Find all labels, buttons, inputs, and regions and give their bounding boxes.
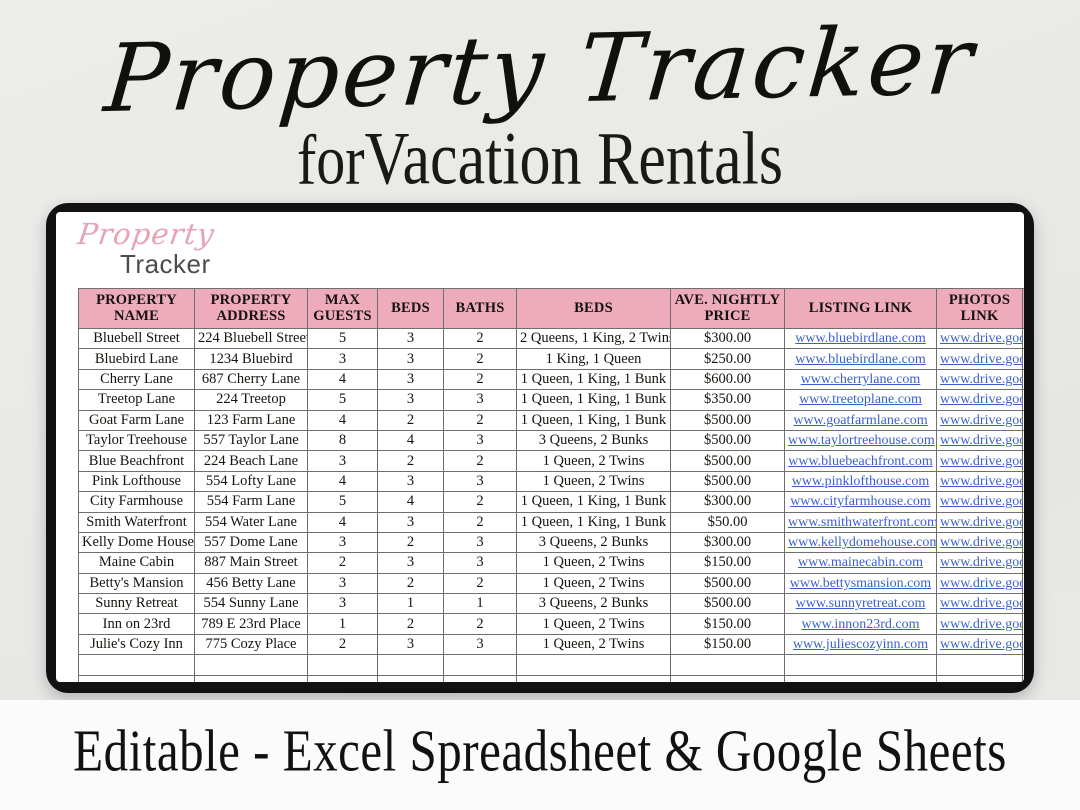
cell-truncated-extra[interactable] (1023, 349, 1025, 369)
cell-photos-link[interactable]: www.drive.goog (937, 329, 1023, 349)
cell-baths[interactable]: 2 (444, 614, 517, 634)
cell-property-name[interactable]: Goat Farm Lane (79, 410, 195, 430)
cell-baths[interactable]: 2 (444, 349, 517, 369)
cell-nightly-price[interactable]: $500.00 (671, 594, 785, 614)
cell-nightly-price[interactable]: $350.00 (671, 390, 785, 410)
cell-max-guests[interactable]: 3 (308, 573, 378, 593)
cell-baths[interactable]: 2 (444, 573, 517, 593)
caption-text: Editable - Excel Spreadsheet & Google Sh… (0, 716, 1080, 786)
column-header-baths[interactable]: BATHS (444, 289, 517, 329)
cell-baths[interactable]: 3 (444, 553, 517, 573)
cell-empty[interactable] (79, 675, 195, 682)
cell-listing-link[interactable]: www.bluebirdlane.com (785, 329, 937, 349)
cell-baths[interactable]: 3 (444, 430, 517, 450)
cell-truncated-extra[interactable] (1023, 492, 1025, 512)
photos-link-text[interactable]: www.drive.goog (940, 535, 1023, 550)
cell-baths[interactable]: 2 (444, 492, 517, 512)
cell-max-guests[interactable]: 5 (308, 329, 378, 349)
table-row-empty[interactable] (79, 675, 1025, 682)
cell-truncated-extra[interactable] (1023, 512, 1025, 532)
cell-property-name[interactable]: Smith Waterfront (79, 512, 195, 532)
column-header-photos-link[interactable]: PHOTOSLINK (937, 289, 1023, 329)
cell-listing-link[interactable]: www.sunnyretreat.com (785, 594, 937, 614)
photos-link-text[interactable]: www.drive.goog (940, 474, 1023, 489)
cell-max-guests[interactable]: 1 (308, 614, 378, 634)
cell-beds-description[interactable]: 1 Queen, 2 Twins (517, 451, 671, 471)
cell-listing-link[interactable]: www.bluebeachfront.com (785, 451, 937, 471)
cell-max-guests[interactable]: 5 (308, 390, 378, 410)
column-header-truncated-extra[interactable] (1023, 289, 1025, 329)
table-row[interactable]: Sunny Retreat554 Sunny Lane3113 Queens, … (79, 594, 1025, 614)
page-title: Property Tracker (0, 11, 1080, 132)
listing-link-text[interactable]: www.smithwaterfront.com (788, 515, 937, 530)
cell-beds-description[interactable]: 1 Queen, 1 King, 1 Bunk (517, 410, 671, 430)
cell-empty[interactable] (671, 675, 785, 682)
cell-photos-link[interactable]: www.drive.goog (937, 614, 1023, 634)
cell-nightly-price[interactable]: $600.00 (671, 369, 785, 389)
cell-empty[interactable] (79, 655, 195, 675)
cell-baths[interactable]: 2 (444, 451, 517, 471)
cell-nightly-price[interactable]: $150.00 (671, 634, 785, 654)
cell-property-address[interactable]: 557 Dome Lane (195, 532, 308, 552)
cell-truncated-extra[interactable] (1023, 329, 1025, 349)
cell-property-name[interactable]: Blue Beachfront (79, 451, 195, 471)
table-row[interactable]: Inn on 23rd789 E 23rd Place1221 Queen, 2… (79, 614, 1025, 634)
cell-baths[interactable]: 2 (444, 512, 517, 532)
cell-property-address[interactable]: 887 Main Street (195, 553, 308, 573)
cell-truncated-extra[interactable] (1023, 369, 1025, 389)
cell-property-address[interactable]: 224 Beach Lane (195, 451, 308, 471)
cell-nightly-price[interactable]: $300.00 (671, 329, 785, 349)
cell-photos-link[interactable]: www.drive.goog (937, 369, 1023, 389)
cell-empty[interactable] (378, 675, 444, 682)
cell-beds-count[interactable]: 2 (378, 410, 444, 430)
cell-property-address[interactable]: 224 Treetop (195, 390, 308, 410)
listing-link-text[interactable]: www.kellydomehouse.com (788, 535, 937, 550)
cell-empty[interactable] (1023, 655, 1025, 675)
cell-listing-link[interactable]: www.treetoplane.com (785, 390, 937, 410)
cell-empty[interactable] (444, 655, 517, 675)
table-row[interactable]: Treetop Lane224 Treetop5331 Queen, 1 Kin… (79, 390, 1025, 410)
cell-property-name[interactable]: Julie's Cozy Inn (79, 634, 195, 654)
cell-truncated-extra[interactable] (1023, 614, 1025, 634)
cell-photos-link[interactable]: www.drive.goog (937, 492, 1023, 512)
cell-truncated-extra[interactable] (1023, 451, 1025, 471)
cell-property-address[interactable]: 456 Betty Lane (195, 573, 308, 593)
cell-beds-description[interactable]: 3 Queens, 2 Bunks (517, 430, 671, 450)
cell-baths[interactable]: 2 (444, 410, 517, 430)
cell-listing-link[interactable]: www.pinklofthouse.com (785, 471, 937, 491)
table-row-empty[interactable] (79, 655, 1025, 675)
cell-empty[interactable] (671, 655, 785, 675)
cell-baths[interactable]: 3 (444, 390, 517, 410)
table-row[interactable]: Betty's Mansion456 Betty Lane3221 Queen,… (79, 573, 1025, 593)
cell-max-guests[interactable]: 3 (308, 532, 378, 552)
cell-property-address[interactable]: 554 Water Lane (195, 512, 308, 532)
table-row[interactable]: Bluebell Street224 Bluebell Street5322 Q… (79, 329, 1025, 349)
cell-empty[interactable] (937, 655, 1023, 675)
cell-beds-description[interactable]: 1 Queen, 1 King, 1 Bunk (517, 390, 671, 410)
cell-listing-link[interactable]: www.bettysmansion.com (785, 573, 937, 593)
cell-max-guests[interactable]: 4 (308, 512, 378, 532)
cell-property-name[interactable]: Bluebell Street (79, 329, 195, 349)
table-row[interactable]: Bluebird Lane1234 Bluebird3321 King, 1 Q… (79, 349, 1025, 369)
cell-photos-link[interactable]: www.drive.goog (937, 512, 1023, 532)
photos-link-text[interactable]: www.drive.goog (940, 555, 1023, 570)
cell-beds-count[interactable]: 3 (378, 553, 444, 573)
cell-property-name[interactable]: Pink Lofthouse (79, 471, 195, 491)
cell-listing-link[interactable]: www.kellydomehouse.com (785, 532, 937, 552)
cell-property-address[interactable]: 123 Farm Lane (195, 410, 308, 430)
cell-listing-link[interactable]: www.innon23rd.com (785, 614, 937, 634)
cell-property-name[interactable]: City Farmhouse (79, 492, 195, 512)
cell-listing-link[interactable]: www.taylortreehouse.com (785, 430, 937, 450)
table-row[interactable]: Maine Cabin887 Main Street2331 Queen, 2 … (79, 553, 1025, 573)
listing-link-text[interactable]: www.goatfarmlane.com (793, 413, 927, 428)
subtitle-for-word: for (297, 120, 365, 199)
table-row[interactable]: Taylor Treehouse557 Taylor Lane8433 Quee… (79, 430, 1025, 450)
listing-link-text[interactable]: www.bluebeachfront.com (788, 454, 932, 469)
cell-beds-count[interactable]: 2 (378, 614, 444, 634)
logo-script-text: Property (76, 220, 217, 249)
cell-beds-count[interactable]: 4 (378, 430, 444, 450)
cell-empty[interactable] (308, 655, 378, 675)
cell-max-guests[interactable]: 4 (308, 369, 378, 389)
cell-photos-link[interactable]: www.drive.goog (937, 349, 1023, 369)
listing-link-text[interactable]: www.mainecabin.com (798, 555, 923, 570)
table-row[interactable]: Blue Beachfront224 Beach Lane3221 Queen,… (79, 451, 1025, 471)
table-row[interactable]: Pink Lofthouse554 Lofty Lane4331 Queen, … (79, 471, 1025, 491)
cell-photos-link[interactable]: www.drive.goog (937, 553, 1023, 573)
cell-beds-description[interactable]: 2 Queens, 1 King, 2 Twins (517, 329, 671, 349)
cell-nightly-price[interactable]: $300.00 (671, 492, 785, 512)
title-block: Property Tracker forVacation Rentals (0, 0, 1080, 200)
photos-link-text[interactable]: www.drive.goog (940, 637, 1023, 652)
cell-baths[interactable]: 2 (444, 329, 517, 349)
cell-max-guests[interactable]: 3 (308, 451, 378, 471)
cell-max-guests[interactable]: 2 (308, 553, 378, 573)
table-row[interactable]: Kelly Dome House557 Dome Lane3233 Queens… (79, 532, 1025, 552)
cell-nightly-price[interactable]: $500.00 (671, 430, 785, 450)
cell-photos-link[interactable]: www.drive.goog (937, 573, 1023, 593)
cell-nightly-price[interactable]: $300.00 (671, 532, 785, 552)
cell-beds-description[interactable]: 1 King, 1 Queen (517, 349, 671, 369)
logo-plain-text: Tracker (120, 251, 308, 277)
cell-baths[interactable]: 3 (444, 532, 517, 552)
cell-max-guests[interactable]: 4 (308, 471, 378, 491)
cell-beds-description[interactable]: 1 Queen, 1 King, 1 Bunk (517, 369, 671, 389)
cell-beds-count[interactable]: 4 (378, 492, 444, 512)
photos-link-text[interactable]: www.drive.goog (940, 494, 1023, 509)
subtitle-rest: Vacation Rentals (365, 118, 783, 201)
column-header-beds-description[interactable]: BEDS (517, 289, 671, 329)
cell-empty[interactable] (785, 675, 937, 682)
cell-truncated-extra[interactable] (1023, 573, 1025, 593)
cell-property-name[interactable]: Betty's Mansion (79, 573, 195, 593)
poster-canvas: Property Tracker forVacation Rentals Pro… (0, 0, 1080, 810)
cell-beds-count[interactable]: 3 (378, 471, 444, 491)
listing-link-text[interactable]: www.treetoplane.com (799, 392, 922, 407)
photos-link-text[interactable]: www.drive.goog (940, 515, 1023, 530)
photos-link-text[interactable]: www.drive.goog (940, 352, 1023, 367)
cell-beds-count[interactable]: 3 (378, 369, 444, 389)
cell-property-name[interactable]: Treetop Lane (79, 390, 195, 410)
cell-property-address[interactable]: 557 Taylor Lane (195, 430, 308, 450)
table-row[interactable]: Julie's Cozy Inn775 Cozy Place2331 Queen… (79, 634, 1025, 654)
cell-beds-description[interactable]: 3 Queens, 2 Bunks (517, 532, 671, 552)
cell-property-name[interactable]: Cherry Lane (79, 369, 195, 389)
cell-property-name[interactable]: Maine Cabin (79, 553, 195, 573)
cell-nightly-price[interactable]: $500.00 (671, 451, 785, 471)
spreadsheet-logo: Property Tracker (78, 220, 308, 282)
cell-baths[interactable]: 3 (444, 471, 517, 491)
cell-beds-description[interactable]: 1 Queen, 2 Twins (517, 553, 671, 573)
cell-listing-link[interactable]: www.smithwaterfront.com (785, 512, 937, 532)
table-row[interactable]: City Farmhouse554 Farm Lane5421 Queen, 1… (79, 492, 1025, 512)
cell-max-guests[interactable]: 2 (308, 634, 378, 654)
cell-truncated-extra[interactable] (1023, 430, 1025, 450)
cell-beds-count[interactable]: 3 (378, 349, 444, 369)
spreadsheet-scroll-area[interactable]: PROPERTYNAME PROPERTYADDRESS MAXGUESTS B… (78, 288, 1024, 682)
listing-link-text[interactable]: www.cityfarmhouse.com (790, 494, 931, 509)
cell-truncated-extra[interactable] (1023, 390, 1025, 410)
photos-link-text[interactable]: www.drive.goog (940, 454, 1023, 469)
cell-listing-link[interactable]: www.mainecabin.com (785, 553, 937, 573)
photos-link-text[interactable]: www.drive.goog (940, 433, 1023, 448)
cell-nightly-price[interactable]: $500.00 (671, 573, 785, 593)
cell-max-guests[interactable]: 3 (308, 349, 378, 369)
cell-baths[interactable]: 1 (444, 594, 517, 614)
cell-photos-link[interactable]: www.drive.goog (937, 532, 1023, 552)
cell-beds-count[interactable]: 1 (378, 594, 444, 614)
cell-empty[interactable] (517, 655, 671, 675)
cell-property-address[interactable]: 224 Bluebell Street (195, 329, 308, 349)
property-tracker-table: PROPERTYNAME PROPERTYADDRESS MAXGUESTS B… (78, 288, 1024, 682)
cell-max-guests[interactable]: 8 (308, 430, 378, 450)
photos-link-text[interactable]: www.drive.goog (940, 372, 1023, 387)
cell-empty[interactable] (195, 655, 308, 675)
cell-empty[interactable] (937, 675, 1023, 682)
table-body: Bluebell Street224 Bluebell Street5322 Q… (79, 329, 1025, 683)
listing-link-text[interactable]: www.taylortreehouse.com (788, 433, 935, 448)
cell-listing-link[interactable]: www.bluebirdlane.com (785, 349, 937, 369)
cell-beds-count[interactable]: 2 (378, 532, 444, 552)
cell-max-guests[interactable]: 5 (308, 492, 378, 512)
cell-beds-count[interactable]: 2 (378, 451, 444, 471)
cell-nightly-price[interactable]: $50.00 (671, 512, 785, 532)
photos-link-text[interactable]: www.drive.goog (940, 413, 1023, 428)
column-header-max-guests[interactable]: MAXGUESTS (308, 289, 378, 329)
column-header-property-address[interactable]: PROPERTYADDRESS (195, 289, 308, 329)
column-header-property-name[interactable]: PROPERTYNAME (79, 289, 195, 329)
cell-beds-count[interactable]: 3 (378, 634, 444, 654)
photos-link-text[interactable]: www.drive.goog (940, 576, 1023, 591)
cell-baths[interactable]: 2 (444, 369, 517, 389)
cell-photos-link[interactable]: www.drive.goog (937, 451, 1023, 471)
cell-photos-link[interactable]: www.drive.goog (937, 471, 1023, 491)
cell-beds-count[interactable]: 2 (378, 573, 444, 593)
cell-property-name[interactable]: Bluebird Lane (79, 349, 195, 369)
cell-property-address[interactable]: 789 E 23rd Place (195, 614, 308, 634)
cell-nightly-price[interactable]: $150.00 (671, 553, 785, 573)
cell-photos-link[interactable]: www.drive.goog (937, 390, 1023, 410)
cell-nightly-price[interactable]: $500.00 (671, 471, 785, 491)
cell-empty[interactable] (785, 655, 937, 675)
cell-empty[interactable] (378, 655, 444, 675)
cell-property-name[interactable]: Kelly Dome House (79, 532, 195, 552)
cell-listing-link[interactable]: www.cherrylane.com (785, 369, 937, 389)
cell-empty[interactable] (195, 675, 308, 682)
listing-link-text[interactable]: www.pinklofthouse.com (792, 474, 930, 489)
photos-link-text[interactable]: www.drive.goog (940, 392, 1023, 407)
tablet-device-frame: Property Tracker PROPERTYNAME PROPERTYAD… (46, 203, 1034, 693)
cell-photos-link[interactable]: www.drive.goog (937, 594, 1023, 614)
cell-property-name[interactable]: Inn on 23rd (79, 614, 195, 634)
cell-truncated-extra[interactable] (1023, 594, 1025, 614)
cell-beds-count[interactable]: 3 (378, 329, 444, 349)
cell-property-address[interactable]: 554 Lofty Lane (195, 471, 308, 491)
cell-property-address[interactable]: 554 Farm Lane (195, 492, 308, 512)
cell-nightly-price[interactable]: $150.00 (671, 614, 785, 634)
cell-truncated-extra[interactable] (1023, 471, 1025, 491)
cell-property-name[interactable]: Sunny Retreat (79, 594, 195, 614)
cell-listing-link[interactable]: www.juliescozyinn.com (785, 634, 937, 654)
cell-beds-description[interactable]: 1 Queen, 2 Twins (517, 471, 671, 491)
tablet-screen: Property Tracker PROPERTYNAME PROPERTYAD… (56, 212, 1024, 682)
cell-nightly-price[interactable]: $250.00 (671, 349, 785, 369)
table-row[interactable]: Cherry Lane687 Cherry Lane4321 Queen, 1 … (79, 369, 1025, 389)
cell-beds-description[interactable]: 1 Queen, 1 King, 1 Bunk (517, 512, 671, 532)
cell-empty[interactable] (1023, 675, 1025, 682)
cell-beds-description[interactable]: 1 Queen, 1 King, 1 Bunk (517, 492, 671, 512)
cell-beds-count[interactable]: 3 (378, 390, 444, 410)
photos-link-text[interactable]: www.drive.goog (940, 596, 1023, 611)
cell-max-guests[interactable]: 4 (308, 410, 378, 430)
cell-beds-description[interactable]: 1 Queen, 2 Twins (517, 634, 671, 654)
cell-beds-description[interactable]: 3 Queens, 2 Bunks (517, 594, 671, 614)
cell-listing-link[interactable]: www.cityfarmhouse.com (785, 492, 937, 512)
cell-property-name[interactable]: Taylor Treehouse (79, 430, 195, 450)
photos-link-text[interactable]: www.drive.goog (940, 617, 1023, 632)
cell-truncated-extra[interactable] (1023, 532, 1025, 552)
cell-empty[interactable] (517, 675, 671, 682)
listing-link-text[interactable]: www.bettysmansion.com (790, 576, 931, 591)
cell-property-address[interactable]: 775 Cozy Place (195, 634, 308, 654)
cell-truncated-extra[interactable] (1023, 410, 1025, 430)
cell-property-address[interactable]: 554 Sunny Lane (195, 594, 308, 614)
cell-truncated-extra[interactable] (1023, 634, 1025, 654)
cell-max-guests[interactable]: 3 (308, 594, 378, 614)
column-header-listing-link[interactable]: LISTING LINK (785, 289, 937, 329)
listing-link-text[interactable]: www.innon23rd.com (801, 617, 919, 632)
table-row[interactable]: Smith Waterfront554 Water Lane4321 Queen… (79, 512, 1025, 532)
listing-link-text[interactable]: www.bluebirdlane.com (795, 352, 926, 367)
table-row[interactable]: Goat Farm Lane123 Farm Lane4221 Queen, 1… (79, 410, 1025, 430)
cell-photos-link[interactable]: www.drive.goog (937, 634, 1023, 654)
photos-link-text[interactable]: www.drive.goog (940, 331, 1023, 346)
cell-empty[interactable] (444, 675, 517, 682)
cell-beds-description[interactable]: 1 Queen, 2 Twins (517, 614, 671, 634)
listing-link-text[interactable]: www.bluebirdlane.com (795, 331, 926, 346)
cell-property-address[interactable]: 1234 Bluebird (195, 349, 308, 369)
cell-truncated-extra[interactable] (1023, 553, 1025, 573)
cell-beds-description[interactable]: 1 Queen, 2 Twins (517, 573, 671, 593)
table-header: PROPERTYNAME PROPERTYADDRESS MAXGUESTS B… (79, 289, 1025, 329)
cell-beds-count[interactable]: 3 (378, 512, 444, 532)
table-header-row: PROPERTYNAME PROPERTYADDRESS MAXGUESTS B… (79, 289, 1025, 329)
column-header-ave-nightly-price[interactable]: AVE. NIGHTLYPRICE (671, 289, 785, 329)
column-header-beds-count[interactable]: BEDS (378, 289, 444, 329)
listing-link-text[interactable]: www.sunnyretreat.com (796, 596, 926, 611)
cell-baths[interactable]: 3 (444, 634, 517, 654)
cell-photos-link[interactable]: www.drive.goog (937, 430, 1023, 450)
cell-listing-link[interactable]: www.goatfarmlane.com (785, 410, 937, 430)
page-subtitle: forVacation Rentals (0, 121, 1080, 197)
cell-nightly-price[interactable]: $500.00 (671, 410, 785, 430)
listing-link-text[interactable]: www.cherrylane.com (801, 372, 921, 387)
cell-empty[interactable] (308, 675, 378, 682)
cell-property-address[interactable]: 687 Cherry Lane (195, 369, 308, 389)
listing-link-text[interactable]: www.juliescozyinn.com (793, 637, 928, 652)
cell-photos-link[interactable]: www.drive.goog (937, 410, 1023, 430)
